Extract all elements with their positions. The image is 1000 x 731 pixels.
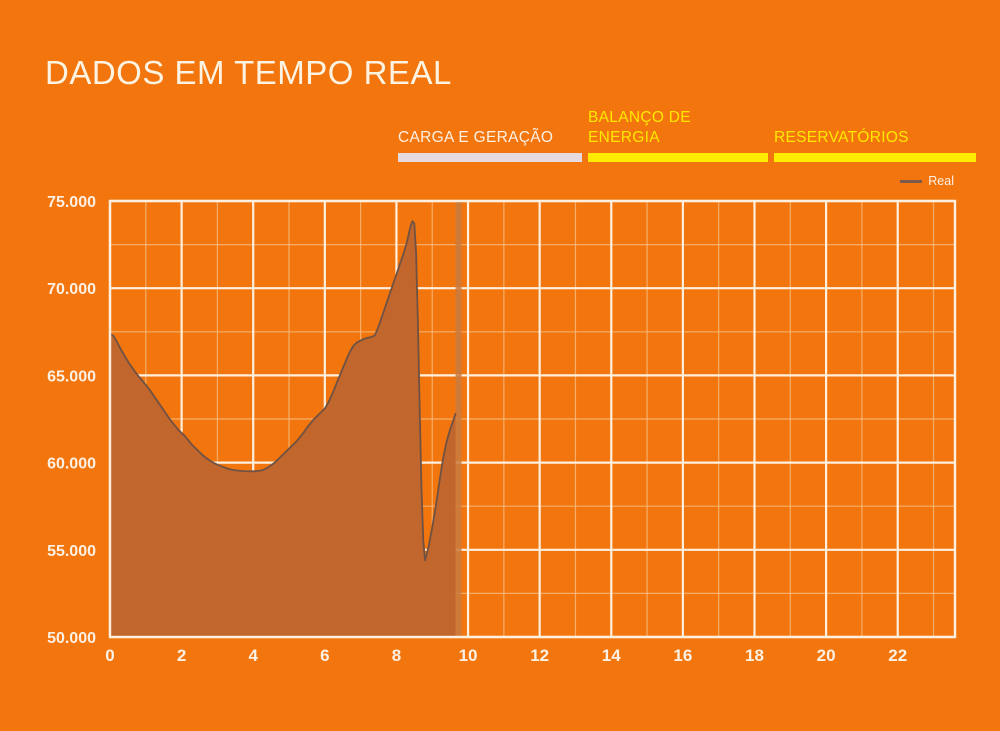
y-axis-tick-label: 50.000 [47,630,96,647]
x-axis-tick-label: 0 [105,646,114,665]
x-axis-tick-label: 14 [602,646,621,665]
y-axis-tick-label: 55.000 [47,543,96,560]
load-generation-chart: 50.00055.00060.00065.00070.00075.000 024… [0,0,1000,731]
x-axis-tick-label: 12 [530,646,549,665]
x-axis-tick-label: 2 [177,646,186,665]
x-axis-tick-label: 4 [248,646,258,665]
y-axis-tick-label: 65.000 [47,368,96,385]
y-axis-tick-label: 75.000 [47,194,96,211]
x-axis-tick-label: 8 [392,646,401,665]
y-axis-tick-label: 60.000 [47,456,96,473]
chart-canvas: 50.00055.00060.00065.00070.00075.000 024… [0,0,1000,731]
x-axis-tick-label: 18 [745,646,764,665]
x-axis-tick-label: 22 [888,646,907,665]
x-axis-tick-label: 6 [320,646,329,665]
x-axis-tick-label: 16 [673,646,692,665]
y-axis-ticks: 50.00055.00060.00065.00070.00075.000 [47,194,96,647]
x-axis-tick-label: 10 [459,646,478,665]
y-axis-tick-label: 70.000 [47,281,96,298]
x-axis-tick-label: 20 [817,646,836,665]
x-axis-ticks: 0246810121416182022 [105,646,907,665]
